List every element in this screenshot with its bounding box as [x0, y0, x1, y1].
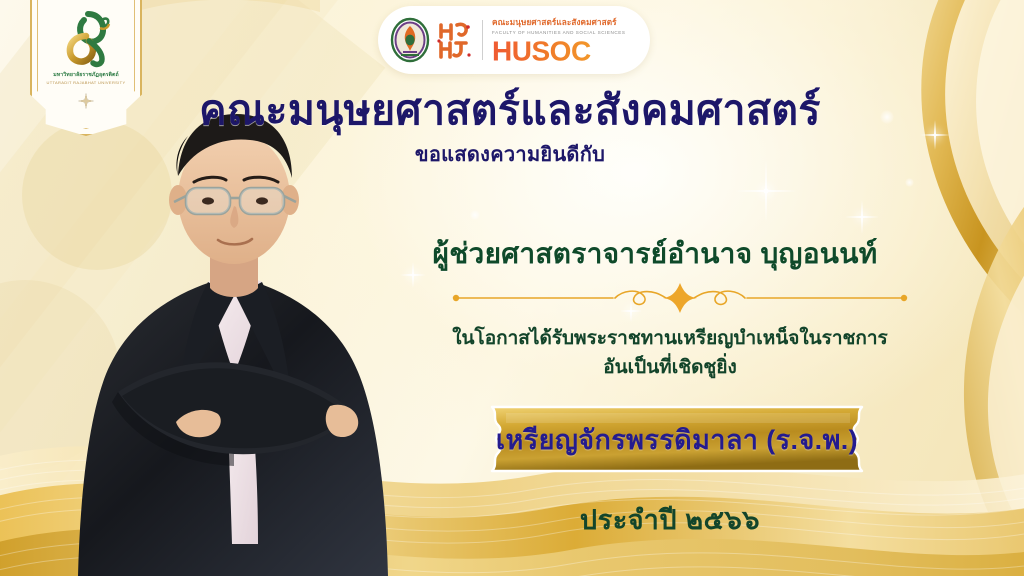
bokeh-decoration	[470, 210, 480, 220]
faculty-thai-name: คณะมนุษยศาสตร์และสังคมศาสตร์	[492, 16, 669, 29]
ornamental-divider-icon	[445, 281, 915, 315]
university-monogram-icon	[58, 10, 114, 68]
shield-thai-name: มหาวิทยาลัยราชภัฏอุตรดิตถ์	[53, 71, 119, 79]
faculty-logo: คณะมนุษยศาสตร์และสังคมศาสตร์ FACULTY OF …	[378, 6, 650, 74]
faculty-english-name: FACULTY OF HUMANITIES AND SOCIAL SCIENCE…	[492, 30, 669, 35]
award-badge-text: เหรียญจักรพรรดิมาลา (ร.จ.พ.)	[446, 403, 908, 475]
university-seal-icon	[390, 17, 430, 63]
banner-headline: คณะมนุษยศาสตร์และสังคมศาสตร์	[180, 88, 840, 134]
occasion-line-2: อันเป็นที่เชิดชูยิ่ง	[420, 353, 920, 382]
shield-english-name: UTTARADIT RAJABHAT UNIVERSITY	[47, 80, 126, 85]
husoc-wordmark: HUSOC	[492, 37, 669, 65]
bokeh-decoration	[905, 178, 914, 187]
sparkle-icon	[845, 200, 879, 234]
husoc-text: HUSOC	[492, 37, 591, 65]
compass-star-icon	[78, 93, 94, 109]
congratulation-banner: มหาวิทยาลัยราชภัฏอุตรดิตถ์ UTTARADIT RAJ…	[0, 0, 1024, 576]
thai-monogram-icon	[433, 17, 473, 63]
portrait-of-honoree	[58, 106, 408, 576]
occasion-text: ในโอกาสได้รับพระราชทานเหรียญบำเหน็จในราช…	[420, 324, 920, 383]
banner-year: ประจำปี ๒๕๖๖	[420, 498, 920, 541]
award-badge: เหรียญจักรพรรดิมาลา (ร.จ.พ.)	[446, 403, 908, 475]
occasion-line-1: ในโอกาสได้รับพระราชทานเหรียญบำเหน็จในราช…	[420, 324, 920, 353]
logo-divider	[482, 20, 483, 60]
sparkle-icon	[920, 120, 950, 150]
bokeh-decoration	[880, 110, 894, 124]
university-shield-logo: มหาวิทยาลัยราชภัฏอุตรดิตถ์ UTTARADIT RAJ…	[30, 0, 142, 136]
banner-subheadline: ขอแสดงความยินดีกับ	[180, 138, 840, 170]
honoree-name: ผู้ช่วยศาสตราจารย์อำนาจ บุญอนนท์	[370, 232, 940, 276]
